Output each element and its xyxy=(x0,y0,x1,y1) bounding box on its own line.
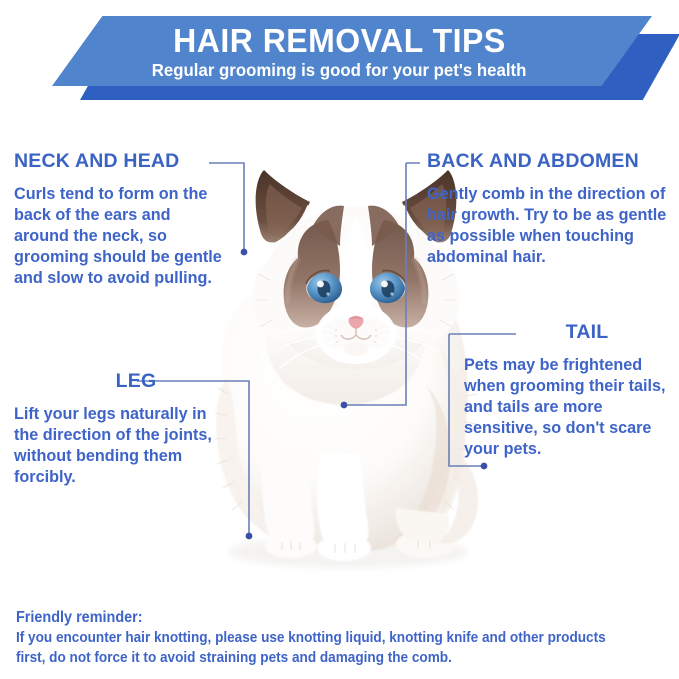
section-body-back-and-abdomen: Gently comb in the direction of hair gro… xyxy=(427,184,677,268)
footer-note: Friendly reminder: If you encounter hair… xyxy=(16,608,666,668)
section-body-neck-and-head: Curls tend to form on the back of the ea… xyxy=(14,184,229,289)
section-body-tail: Pets may be frightened when grooming the… xyxy=(464,355,679,460)
footer-body: If you encounter hair knotting, please u… xyxy=(16,629,621,668)
section-neck-and-head: NECK AND HEAD Curls tend to form on the … xyxy=(14,152,229,289)
section-tail: TAIL Pets may be frightened when groomin… xyxy=(464,323,679,460)
footer-title: Friendly reminder: xyxy=(16,608,621,627)
section-heading-neck-and-head: NECK AND HEAD xyxy=(14,152,229,172)
header-banner: HAIR REMOVAL TIPS Regular grooming is go… xyxy=(0,0,679,108)
section-heading-tail: TAIL xyxy=(512,323,662,343)
section-body-leg: Lift your legs naturally in the directio… xyxy=(14,404,229,488)
banner-main-shape xyxy=(52,16,652,86)
section-back-and-abdomen: BACK AND ABDOMEN Gently comb in the dire… xyxy=(427,152,677,268)
section-leg: LEG Lift your legs naturally in the dire… xyxy=(14,372,229,488)
section-heading-back-and-abdomen: BACK AND ABDOMEN xyxy=(427,152,677,172)
section-heading-leg: LEG xyxy=(76,372,196,392)
